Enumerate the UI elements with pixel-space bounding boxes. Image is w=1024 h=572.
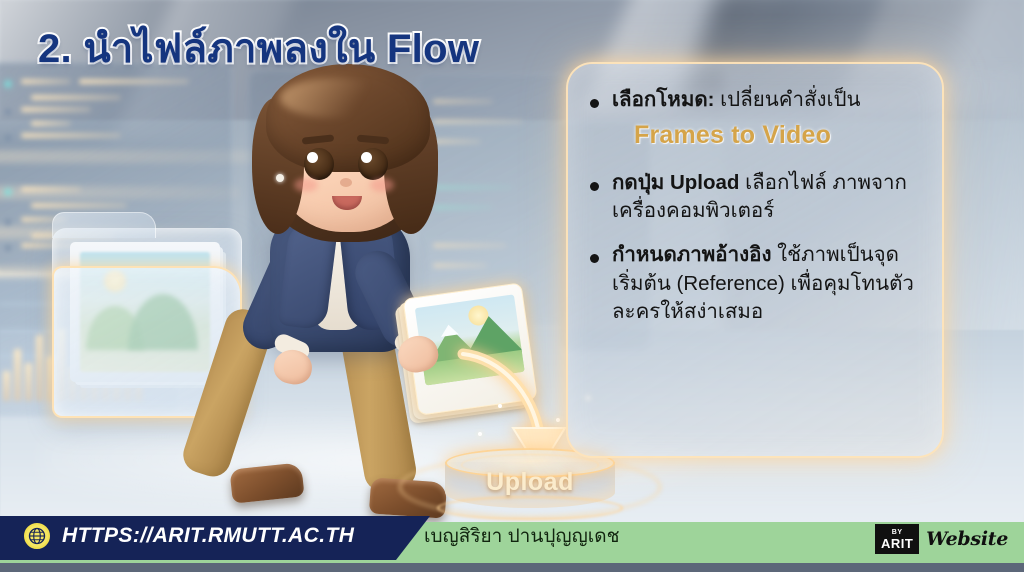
bullet-dot-icon	[590, 99, 599, 108]
arit-logo-box: BY ARIT	[875, 524, 919, 554]
footer-bar: HTTPS://ARIT.RMUTT.AC.TH เบญสิริยา ปานปุ…	[0, 514, 1024, 572]
folder-tab	[52, 212, 156, 238]
bullet-item: กำหนดภาพอ้างอิง ใช้ภาพเป็นจุดเริ่มต้น (R…	[582, 241, 926, 326]
footer-shadow-strip	[0, 563, 1024, 572]
instructions-panel: เลือกโหมด: เปลี่ยนคำสั่งเป็น Frames to V…	[566, 62, 944, 458]
bullet-item: กดปุ่ม Upload เลือกไฟล์ ภาพจากเครื่องคอม…	[582, 169, 926, 226]
character-cheek-blush	[370, 178, 394, 192]
bullet-lead: เลือกโหมด:	[612, 88, 714, 111]
sparkle	[478, 432, 482, 436]
footer-author: เบญสิริยา ปานปุญญเดช	[424, 521, 620, 551]
bullet-text: กำหนดภาพอ้างอิง ใช้ภาพเป็นจุดเริ่มต้น (R…	[612, 241, 926, 326]
character-shoe	[229, 462, 304, 503]
logo-website-text: Website	[926, 528, 1008, 550]
footer-url[interactable]: HTTPS://ARIT.RMUTT.AC.TH	[62, 524, 354, 548]
character-cheek-blush	[294, 178, 318, 192]
bullet-text: เลือกโหมด: เปลี่ยนคำสั่งเป็น Frames to V…	[612, 86, 926, 153]
character-hair-shine	[280, 78, 390, 118]
globe-icon	[24, 523, 50, 549]
logo-arit-text: ARIT	[881, 537, 913, 550]
upload-button[interactable]: Upload	[437, 452, 623, 518]
character-nose	[340, 178, 352, 187]
upload-button-label: Upload	[445, 468, 615, 497]
bullet-dot-icon	[590, 254, 599, 263]
page-title: 2. นำไฟล์ภาพลงใน Flow	[38, 16, 479, 80]
bullet-accent-text: Frames to Video	[634, 118, 926, 153]
bullet-body: เปลี่ยนคำสั่งเป็น	[714, 88, 860, 111]
bullet-item: เลือกโหมด: เปลี่ยนคำสั่งเป็น Frames to V…	[582, 86, 926, 153]
character-eye-highlight	[307, 152, 318, 163]
sparkle	[498, 404, 502, 408]
slide-canvas: Upload เลือกโหมด: เปลี่ยนคำสั่งเป็น Fram…	[0, 0, 1024, 572]
bullet-dot-icon	[590, 182, 599, 191]
character-earring	[276, 174, 284, 182]
sparkle	[556, 418, 560, 422]
bullet-text: กดปุ่ม Upload เลือกไฟล์ ภาพจากเครื่องคอม…	[612, 169, 926, 226]
arit-website-logo: BY ARIT Website	[875, 524, 1008, 554]
bullet-lead: กำหนดภาพอ้างอิง	[612, 243, 771, 266]
logo-by-text: BY	[892, 529, 903, 536]
bullet-lead: กดปุ่ม Upload	[612, 171, 739, 194]
character-eye-highlight	[361, 152, 372, 163]
